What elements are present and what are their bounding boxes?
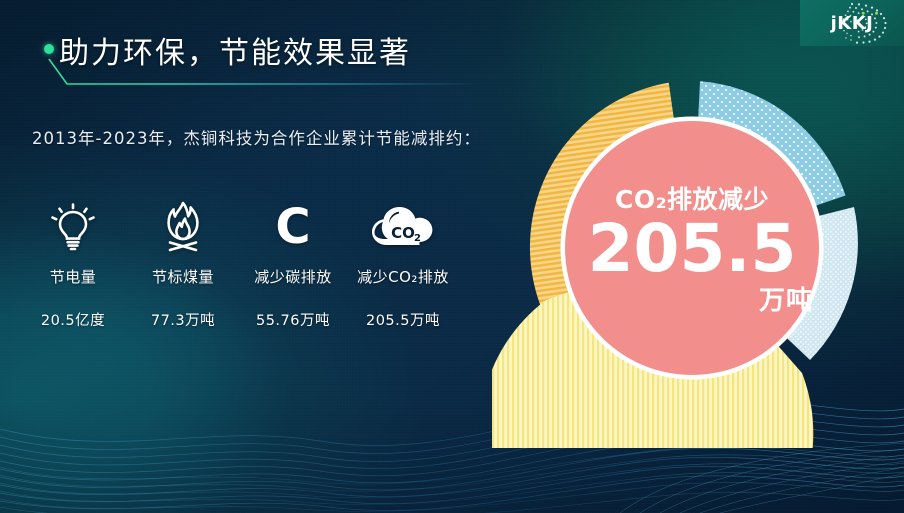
stat-card-carbon: C 减少碳排放 55.76万吨 — [238, 198, 348, 330]
slide-canvas: jKKJ 助力环保，节能效果显著 2013年-2023年，杰锏科技为合作企业累计… — [0, 0, 904, 513]
letter-c-icon: C — [238, 198, 348, 256]
stat-label: 减少碳排放 — [238, 266, 348, 287]
campfire-flame-icon — [128, 198, 238, 256]
stat-value: 20.5亿度 — [18, 309, 128, 330]
donut-center-hub — [565, 121, 819, 375]
page-title: 助力环保，节能效果显著 — [59, 28, 411, 72]
cloud-co2-icon: CO 2 — [348, 198, 458, 256]
brand-logo[interactable]: jKKJ — [800, 0, 904, 46]
logo-wordmark: jKKJ — [831, 13, 874, 34]
stat-label: 减少CO₂排放 — [348, 266, 458, 287]
stat-card-electricity: 节电量 20.5亿度 — [18, 198, 128, 330]
stat-label: 节标煤量 — [128, 266, 238, 287]
title-accent-dot — [44, 44, 54, 54]
stat-value: 77.3万吨 — [128, 309, 238, 330]
subtitle-text: 2013年-2023年，杰锏科技为合作企业累计节能减排约： — [32, 124, 482, 154]
letter-c-glyph: C — [275, 203, 310, 251]
stat-value: 205.5万吨 — [348, 309, 458, 330]
stat-value: 55.76万吨 — [238, 309, 348, 330]
stat-card-coal: 节标煤量 77.3万吨 — [128, 198, 238, 330]
donut-chart — [492, 48, 892, 448]
stat-card-co2: CO 2 减少CO₂排放 205.5万吨 — [348, 198, 458, 330]
stats-row: 节电量 20.5亿度 节标煤量 77.3万吨 C 减 — [18, 198, 458, 330]
lightbulb-icon — [18, 198, 128, 256]
stat-label: 节电量 — [18, 266, 128, 287]
